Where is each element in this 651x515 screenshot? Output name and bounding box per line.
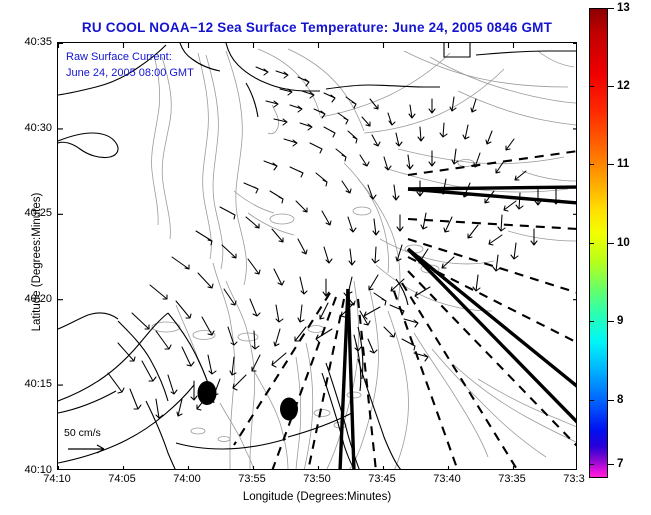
radar-station-marker (198, 381, 217, 405)
colorbar-tick (589, 8, 594, 9)
colorbar-tick (608, 400, 614, 401)
colorbar-tick-label: 7 (617, 458, 623, 470)
xtick-label: 74:00 (173, 473, 201, 485)
radar-station-marker (280, 398, 298, 421)
colorbar-tick (589, 464, 594, 465)
figure-canvas: RU COOL NOAA−12 Sea Surface Temperature:… (0, 0, 651, 515)
colorbar-tick-label: 10 (617, 237, 630, 249)
y-axis-label: Latitude (Degrees:Minutes) (31, 142, 43, 382)
colorbar-tick-label: 11 (617, 158, 629, 170)
map-plot-area[interactable]: Raw Surface Current: June 24, 2005 08:00… (57, 42, 577, 470)
colorbar-tick (589, 86, 594, 87)
colorbar-tick-label: 8 (617, 394, 623, 406)
colorbar-tick (608, 164, 614, 165)
xtick-label: 74:05 (108, 473, 136, 485)
xtick-label: 73:50 (303, 473, 331, 485)
colorbar-tick (608, 464, 614, 465)
colorbar-tick (589, 243, 594, 244)
annotation-line-2: June 24, 2005 08:00 GMT (66, 67, 194, 79)
annotation-line-1: Raw Surface Current: (66, 51, 172, 63)
xtick-label: 73:45 (368, 473, 396, 485)
colorbar-tick (589, 400, 594, 401)
colorbar-tick (608, 8, 614, 9)
colorbar-tick (608, 321, 614, 322)
ytick-label: 40:35 (24, 36, 52, 48)
current-vector-group (108, 67, 559, 418)
xtick-label: 73:35 (498, 473, 526, 485)
colorbar-tick (608, 243, 614, 244)
x-axis-label: Longitude (Degrees:Minutes) (57, 491, 577, 503)
map-graphics (58, 43, 577, 470)
scale-legend-label: 50 cm/s (64, 427, 101, 439)
colorbar-tick-label: 13 (617, 2, 630, 14)
xtick-label: 73:3 (563, 473, 584, 485)
ytick-label: 40:10 (24, 464, 52, 476)
scale-arrow-icon (68, 445, 104, 453)
xtick-label: 73:40 (433, 473, 461, 485)
page-title: RU COOL NOAA−12 Sea Surface Temperature:… (57, 20, 577, 35)
colorbar-tick (608, 86, 614, 87)
colorbar-tick (589, 164, 594, 165)
sst-contour-group (152, 49, 577, 470)
colorbar-tick-label: 9 (617, 315, 623, 327)
ytick-label: 40:30 (24, 122, 52, 134)
xtick-label: 73:55 (238, 473, 266, 485)
colorbar-tick-label: 12 (617, 80, 630, 92)
colorbar-tick (589, 321, 594, 322)
